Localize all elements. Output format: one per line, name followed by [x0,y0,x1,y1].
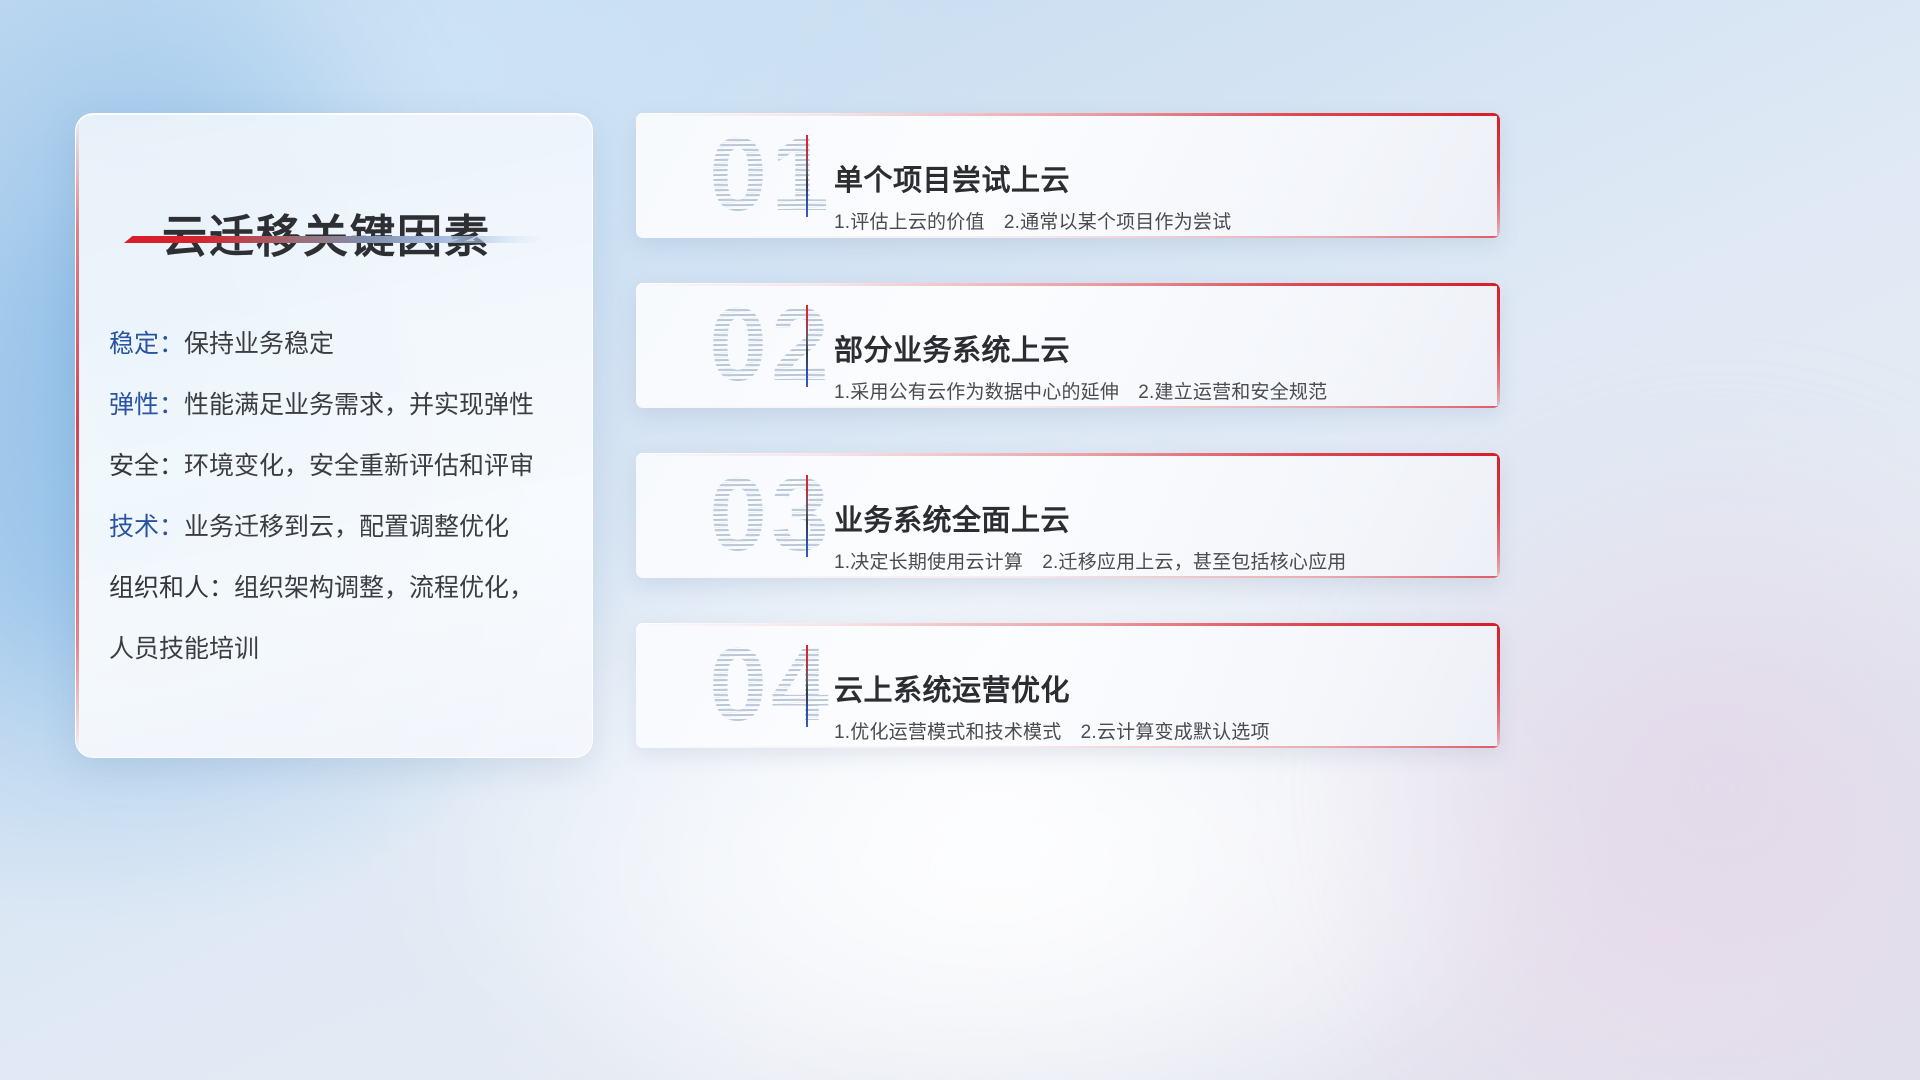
factor-row: 安全：环境变化，安全重新评估和评审 [109,436,579,497]
card-heading: 部分业务系统上云 [834,327,1070,369]
card-subtitle: 1.评估上云的价值 2.通常以某个项目作为尝试 [834,207,1231,234]
slide-canvas: 云迁移关键因素 稳定：保持业务稳定 弹性：性能满足业务需求，并实现弹性 安全：环… [0,0,1920,1080]
card-subtitle: 1.决定长期使用云计算 2.迁移应用上云，甚至包括核心应用 [834,547,1347,574]
card-right-accent-line [1497,453,1500,578]
factor-label: 组织和人： [109,574,234,602]
stage-card[interactable]: 02 02 部分业务系统上云 1.采用公有云作为数据中心的延伸 2.建立运营和安… [636,283,1500,408]
factor-label: 弹性： [109,391,184,419]
stage-card[interactable]: 04 04 云上系统运营优化 1.优化运营模式和技术模式 2.云计算变成默认选项 [636,623,1500,748]
factor-label: 安全： [109,452,184,480]
key-factors-panel: 云迁移关键因素 稳定：保持业务稳定 弹性：性能满足业务需求，并实现弹性 安全：环… [75,113,593,758]
card-divider-bar [806,475,808,557]
factor-text: 业务迁移到云，配置调整优化 [184,513,509,541]
card-subtitle: 1.优化运营模式和技术模式 2.云计算变成默认选项 [834,717,1270,744]
card-subtitle: 1.采用公有云作为数据中心的延伸 2.建立运营和安全规范 [834,377,1327,404]
factor-row: 弹性：性能满足业务需求，并实现弹性 [109,375,579,436]
card-heading: 业务系统全面上云 [834,497,1070,539]
factor-row: 技术：业务迁移到云，配置调整优化 [109,497,579,558]
card-divider-bar [806,305,808,387]
card-divider-bar [806,135,808,217]
factor-row: 稳定：保持业务稳定 [109,314,579,375]
card-right-accent-line [1497,113,1500,238]
card-heading: 云上系统运营优化 [834,667,1070,709]
factor-label: 稳定： [109,330,184,358]
factor-text: 保持业务稳定 [184,330,334,358]
factor-text: 人员技能培训 [109,635,259,663]
factor-list: 稳定：保持业务稳定 弹性：性能满足业务需求，并实现弹性 安全：环境变化，安全重新… [109,314,579,680]
factor-label: 技术： [109,513,184,541]
stage-card-list: 01 01 单个项目尝试上云 1.评估上云的价值 2.通常以某个项目作为尝试 0… [636,113,1500,793]
stage-card[interactable]: 03 03 业务系统全面上云 1.决定长期使用云计算 2.迁移应用上云，甚至包括… [636,453,1500,578]
card-right-accent-line [1497,283,1500,408]
card-divider-bar [806,645,808,727]
panel-left-accent-bar [76,114,79,757]
title-underline-rule [124,236,544,243]
stage-card[interactable]: 01 01 单个项目尝试上云 1.评估上云的价值 2.通常以某个项目作为尝试 [636,113,1500,238]
factor-row: 组织和人：组织架构调整，流程优化， [109,558,579,619]
card-heading: 单个项目尝试上云 [834,157,1070,199]
factor-row: 人员技能培训 [109,619,579,680]
factor-text: 环境变化，安全重新评估和评审 [184,452,534,480]
factor-text: 性能满足业务需求，并实现弹性 [184,391,534,419]
page-title: 云迁移关键因素 [162,200,491,265]
factor-text: 组织架构调整，流程优化， [234,574,534,602]
card-right-accent-line [1497,623,1500,748]
